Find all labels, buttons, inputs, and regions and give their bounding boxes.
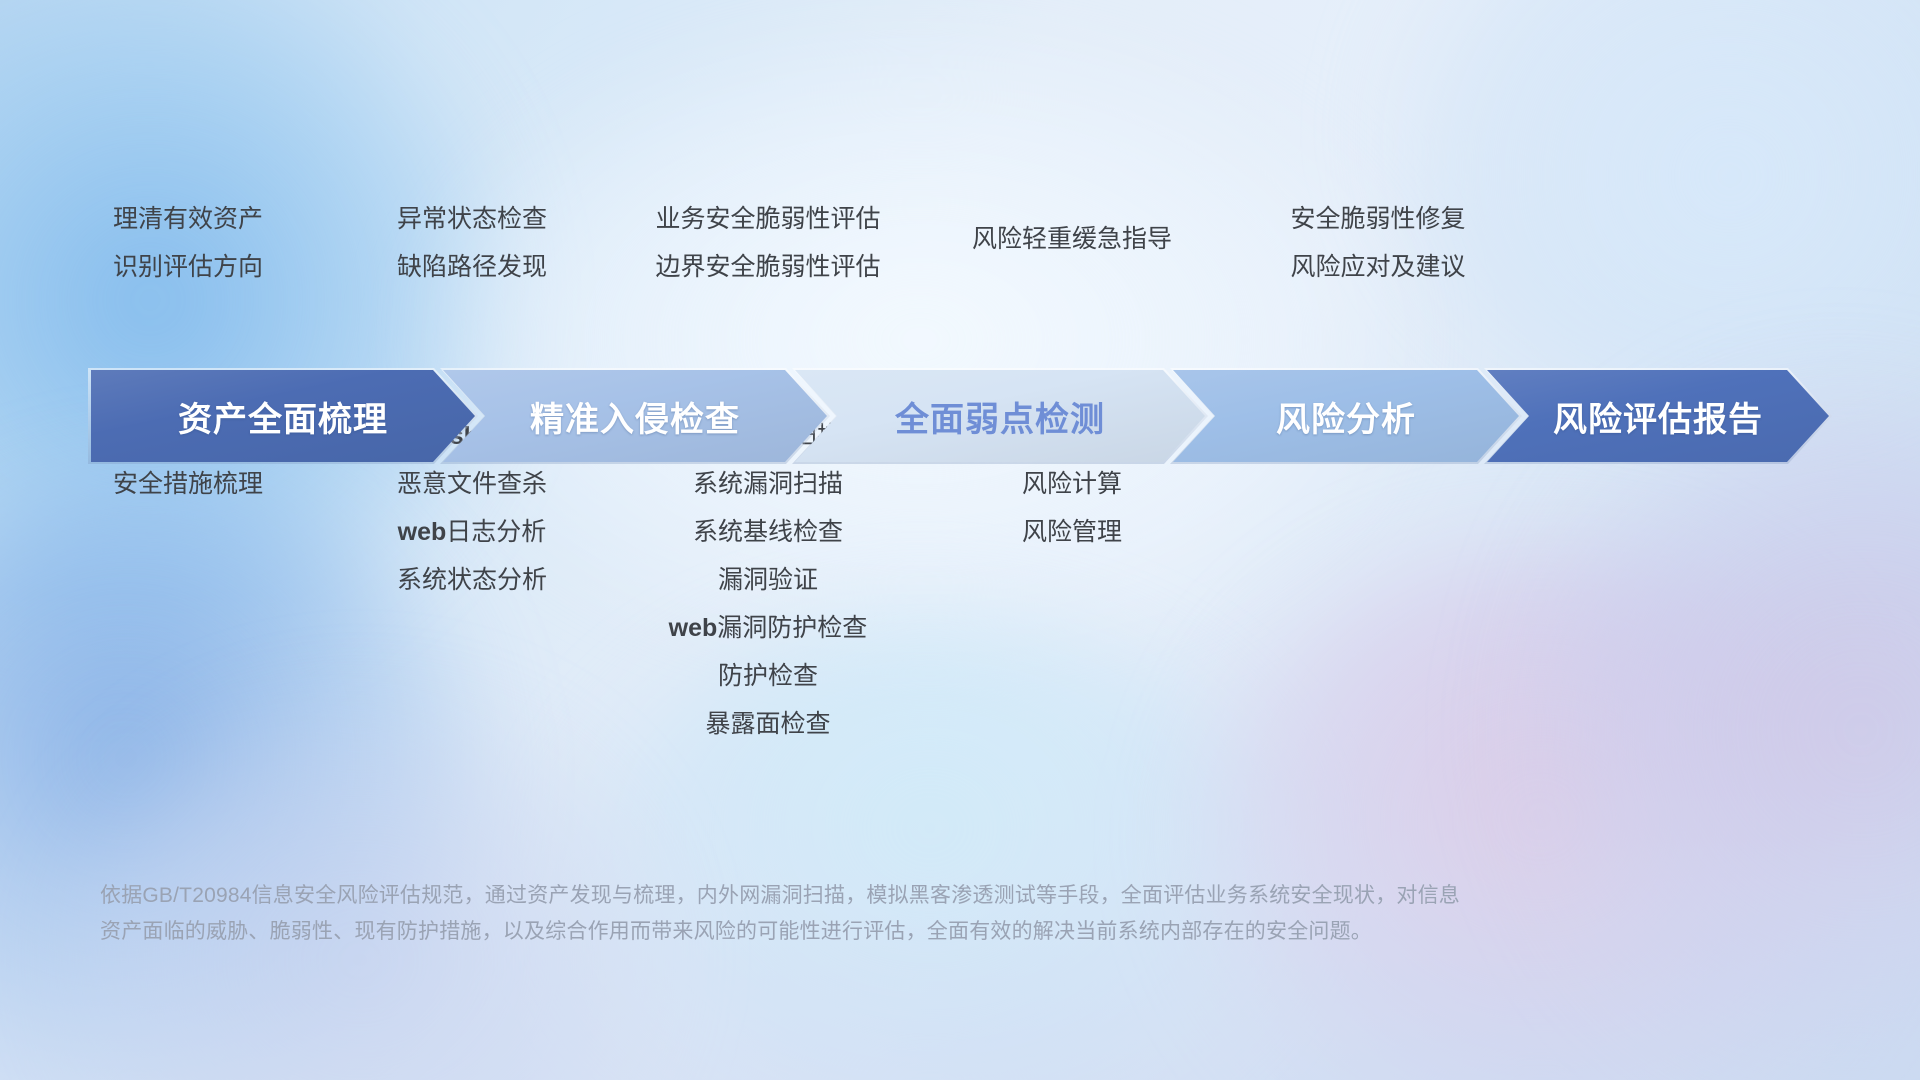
process-arrow-label: 精准入侵检查 [530,392,740,441]
process-arrow-risk-analysis[interactable]: 风险分析 [1170,368,1522,464]
footer-line-2: 资产面临的威胁、脆弱性、现有防护措施，以及综合作用而带来风险的可能性进行评估，全… [100,914,1740,950]
stage-bottom-item-keyword: web [398,518,447,546]
stage-bottom-item: 风险管理 [772,508,1372,556]
process-arrow-label: 风险评估报告 [1553,392,1763,441]
stage-bottom-item: 风险计算 [772,460,1372,508]
stage-bottom-item: web漏洞防护检查 [468,604,1068,652]
process-arrow-risk-report[interactable]: 风险评估报告 [1484,368,1832,464]
stage-bottom-item-keyword: web [669,614,718,642]
process-arrow-asset-inventory[interactable]: 资产全面梳理 [88,368,478,464]
stage-bottom-item: 暴露面检查 [468,700,1068,748]
stage-top-item: 风险应对及建议 [1078,243,1678,291]
stage-top-item: 安全脆弱性修复 [1078,195,1678,243]
process-arrow-label: 全面弱点检测 [895,392,1105,441]
stage-bottom-item: 防护检查 [468,652,1068,700]
process-arrow-intrusion-check[interactable]: 精准入侵检查 [440,368,830,464]
process-arrow-label: 资产全面梳理 [178,392,388,441]
stage-top-labels-risk-report: 安全脆弱性修复风险应对及建议 [1078,195,1678,291]
process-diagram-slide: 理清有效资产识别评估方向 异常状态检查缺陷路径发现 业务安全脆弱性评估边界安全脆… [0,0,1920,1080]
process-arrow-label: 风险分析 [1276,392,1416,441]
footer-description: 依据GB/T20984信息安全风险评估规范，通过资产发现与梳理，内外网漏洞扫描，… [100,878,1740,950]
footer-line-1: 依据GB/T20984信息安全风险评估规范，通过资产发现与梳理，内外网漏洞扫描，… [100,878,1740,914]
stage-bottom-item: 漏洞验证 [468,556,1068,604]
process-arrow-band: 资产全面梳理精准入侵检查全面弱点检测风险分析风险评估报告 [88,368,1832,464]
process-arrow-weakness-detection[interactable]: 全面弱点检测 [792,368,1208,464]
